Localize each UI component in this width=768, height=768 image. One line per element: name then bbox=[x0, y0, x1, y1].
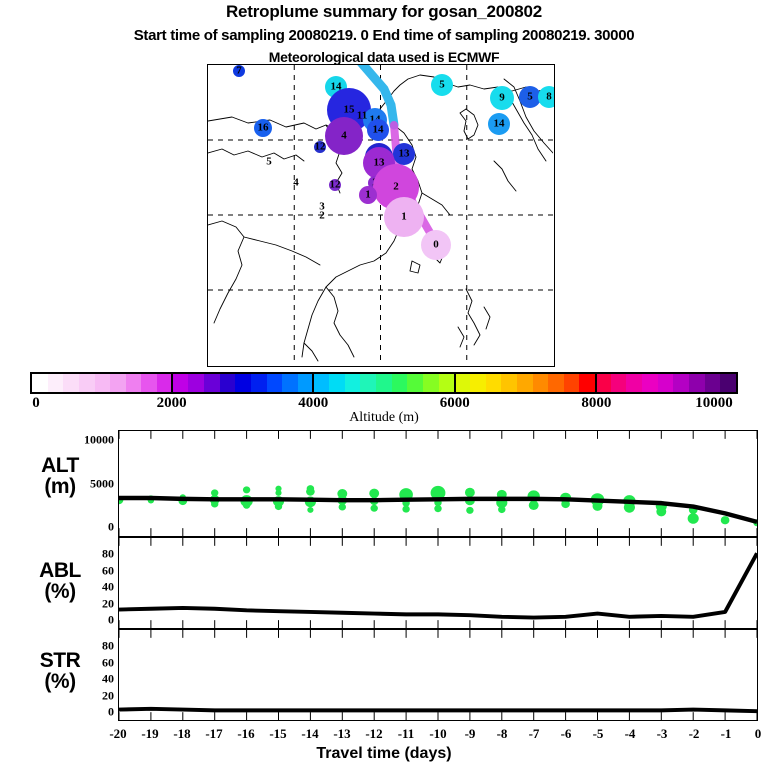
xtick--6: -6 bbox=[561, 726, 572, 742]
xtick--9: -9 bbox=[465, 726, 476, 742]
str-ytick-40: 40 bbox=[54, 672, 114, 687]
abl-ytick-80: 80 bbox=[54, 547, 114, 562]
colorbar-caption: Altitude (m) bbox=[0, 410, 768, 426]
colorbar-swatch-15 bbox=[267, 374, 283, 392]
alt-timeseries-panel[interactable] bbox=[118, 430, 758, 537]
colorbar-swatch-14 bbox=[251, 374, 267, 392]
plume-day-label: 1 bbox=[365, 190, 371, 201]
sampling-time-line: Start time of sampling 20080219. 0 End t… bbox=[0, 27, 768, 44]
colorbar-swatch-12 bbox=[220, 374, 236, 392]
str-plot bbox=[119, 630, 757, 720]
colorbar-swatch-35 bbox=[579, 374, 595, 392]
plume-day-label: 1 bbox=[401, 212, 407, 223]
xtick--4: -4 bbox=[625, 726, 636, 742]
colorbar-swatch-19 bbox=[329, 374, 345, 392]
alt-ytick-5000: 5000 bbox=[54, 476, 114, 491]
plume-day-label: 14 bbox=[373, 125, 384, 136]
altitude-colorbar bbox=[30, 372, 738, 394]
colorbar-swatch-21 bbox=[360, 374, 376, 392]
xtick--2: -2 bbox=[689, 726, 700, 742]
plume-day-label: 5 bbox=[439, 80, 445, 91]
plume-day-label: 7 bbox=[236, 66, 242, 77]
alt-ytick-0: 0 bbox=[54, 520, 114, 535]
colorbar-swatch-7 bbox=[141, 374, 157, 392]
plume-day-label: 11 bbox=[357, 111, 367, 122]
plume-day-label: 13 bbox=[399, 149, 410, 160]
page-title: Retroplume summary for gosan_200802 bbox=[0, 2, 768, 22]
xtick-0: 0 bbox=[755, 726, 762, 742]
colorbar-swatch-33 bbox=[548, 374, 564, 392]
alt-label-line1: ALT bbox=[8, 455, 112, 476]
colorbar-swatch-10 bbox=[188, 374, 204, 392]
colorbar-swatch-26 bbox=[439, 374, 455, 392]
colorbar-swatch-16 bbox=[282, 374, 298, 392]
colorbar-swatch-1 bbox=[48, 374, 64, 392]
xtick--20: -20 bbox=[109, 726, 126, 742]
xtick--1: -1 bbox=[721, 726, 732, 742]
colorbar-swatch-31 bbox=[517, 374, 533, 392]
xtick--18: -18 bbox=[173, 726, 190, 742]
colorbar-swatch-24 bbox=[407, 374, 423, 392]
colorbar-swatch-32 bbox=[533, 374, 549, 392]
xtick--13: -13 bbox=[333, 726, 350, 742]
colorbar-swatch-6 bbox=[126, 374, 142, 392]
colorbar-swatch-4 bbox=[95, 374, 111, 392]
colorbar-swatch-25 bbox=[423, 374, 439, 392]
plume-day-label: 2 bbox=[319, 211, 325, 222]
colorbar-swatch-39 bbox=[642, 374, 658, 392]
abl-ytick-40: 40 bbox=[54, 580, 114, 595]
colorbar-swatch-17 bbox=[298, 374, 314, 392]
plume-day-label: 12 bbox=[330, 180, 341, 191]
plume-day-label: 5 bbox=[266, 157, 272, 168]
colorbar-swatch-34 bbox=[564, 374, 580, 392]
plume-day-label: 8 bbox=[546, 92, 552, 103]
colorbar-separator bbox=[312, 372, 314, 394]
plume-day-label: 14 bbox=[494, 119, 505, 130]
plume-day-label: 16 bbox=[258, 123, 269, 134]
plume-day-label: 15 bbox=[344, 105, 355, 116]
xtick--16: -16 bbox=[237, 726, 254, 742]
xtick--10: -10 bbox=[429, 726, 446, 742]
colorbar-swatch-20 bbox=[345, 374, 361, 392]
abl-plot bbox=[119, 538, 757, 628]
colorbar-swatch-38 bbox=[626, 374, 642, 392]
xtick--3: -3 bbox=[657, 726, 668, 742]
plume-day-label: 9 bbox=[499, 93, 505, 104]
abl-ytick-20: 20 bbox=[54, 596, 114, 611]
colorbar-separator bbox=[171, 372, 173, 394]
met-data-line: Meteorological data used is ECMWF bbox=[0, 49, 768, 65]
plume-day-label: 12 bbox=[315, 142, 326, 153]
colorbar-swatch-13 bbox=[235, 374, 251, 392]
colorbar-separator bbox=[454, 372, 456, 394]
colorbar-swatch-3 bbox=[79, 374, 95, 392]
str-timeseries-panel[interactable] bbox=[118, 629, 758, 721]
colorbar-swatch-43 bbox=[705, 374, 721, 392]
plume-day-label: 5 bbox=[527, 92, 533, 103]
colorbar-swatch-37 bbox=[611, 374, 627, 392]
abl-ytick-0: 0 bbox=[54, 613, 114, 628]
colorbar-swatch-11 bbox=[204, 374, 220, 392]
xtick--5: -5 bbox=[593, 726, 604, 742]
alt-plot bbox=[119, 431, 757, 536]
abl-timeseries-panel[interactable] bbox=[118, 537, 758, 629]
colorbar-swatch-27 bbox=[454, 374, 470, 392]
xtick--11: -11 bbox=[398, 726, 415, 742]
colorbar-swatch-36 bbox=[595, 374, 611, 392]
str-ytick-80: 80 bbox=[54, 639, 114, 654]
colorbar-separator bbox=[595, 372, 597, 394]
plume-day-label: 4 bbox=[293, 178, 299, 189]
colorbar-swatch-23 bbox=[392, 374, 408, 392]
retroplume-map[interactable]: 7141615591458141141441313131254122213210 bbox=[207, 64, 555, 367]
plume-day-label: 2 bbox=[393, 182, 399, 193]
xtick--7: -7 bbox=[529, 726, 540, 742]
xtick--8: -8 bbox=[497, 726, 508, 742]
alt-ytick-10000: 10000 bbox=[54, 433, 114, 448]
colorbar-swatch-9 bbox=[173, 374, 189, 392]
colorbar-swatch-30 bbox=[501, 374, 517, 392]
colorbar-swatch-40 bbox=[658, 374, 674, 392]
colorbar-swatch-29 bbox=[486, 374, 502, 392]
colorbar-swatch-5 bbox=[110, 374, 126, 392]
xtick--17: -17 bbox=[205, 726, 222, 742]
str-ytick-60: 60 bbox=[54, 655, 114, 670]
str-ytick-0: 0 bbox=[54, 705, 114, 720]
plume-day-label: 4 bbox=[341, 131, 347, 142]
abl-ytick-60: 60 bbox=[54, 563, 114, 578]
xtick--19: -19 bbox=[141, 726, 158, 742]
xtick--14: -14 bbox=[301, 726, 318, 742]
colorbar-swatch-44 bbox=[720, 374, 736, 392]
colorbar-swatch-18 bbox=[314, 374, 330, 392]
colorbar-swatch-42 bbox=[689, 374, 705, 392]
colorbar-swatch-28 bbox=[470, 374, 486, 392]
colorbar-swatch-2 bbox=[63, 374, 79, 392]
colorbar-swatch-22 bbox=[376, 374, 392, 392]
x-axis-title: Travel time (days) bbox=[0, 745, 768, 763]
colorbar-swatch-0 bbox=[32, 374, 48, 392]
str-ytick-20: 20 bbox=[54, 688, 114, 703]
colorbar-swatch-41 bbox=[673, 374, 689, 392]
xtick--12: -12 bbox=[365, 726, 382, 742]
plume-day-label: 0 bbox=[433, 240, 439, 251]
xtick--15: -15 bbox=[269, 726, 286, 742]
